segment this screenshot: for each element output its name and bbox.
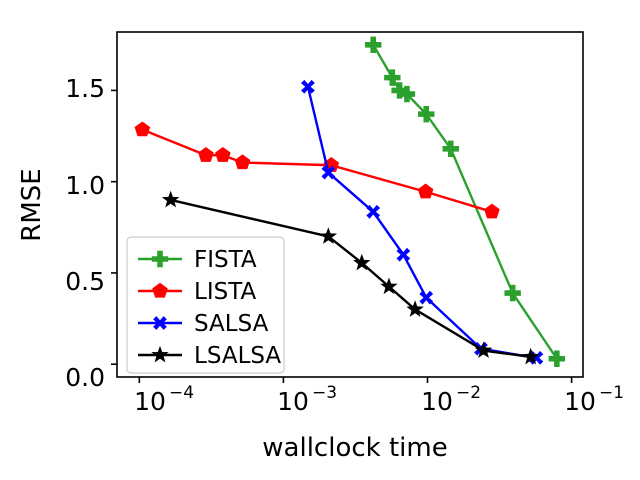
ytick-label-2: 1.0 [65, 171, 105, 200]
xtick-label-0: 10 −4 [134, 383, 194, 416]
legend-label: LSALSA [194, 343, 281, 369]
xtick-label-3: 10 −1 [564, 383, 624, 416]
xtick-base-1: 10 [277, 387, 309, 416]
xtick-exponent-1: −3 [312, 383, 337, 403]
xtick-label-1: 10 −3 [277, 383, 337, 416]
chart-figure: 0.0 0.5 1.0 1.5 10 −4 10 −3 10 −2 10 −1 … [0, 0, 640, 480]
xtick-base-0: 10 [134, 387, 166, 416]
x-axis-title: wallclock time [262, 433, 447, 463]
ytick-label-0: 0.0 [65, 363, 105, 392]
chart-svg: 0.0 0.5 1.0 1.5 10 −4 10 −3 10 −2 10 −1 … [0, 0, 640, 480]
xtick-exponent-3: −1 [599, 383, 624, 403]
ytick-label-1: 0.5 [65, 267, 105, 296]
y-axis-title: RMSE [17, 168, 47, 241]
xtick-exponent-0: −4 [169, 383, 194, 403]
legend-label: LISTA [194, 279, 256, 305]
legend-label: FISTA [194, 247, 257, 273]
xtick-label-2: 10 −2 [421, 383, 481, 416]
xtick-base-3: 10 [564, 387, 596, 416]
xtick-base-2: 10 [421, 387, 453, 416]
ytick-label-3: 1.5 [65, 74, 105, 103]
legend-label: SALSA [194, 311, 269, 337]
xtick-exponent-2: −2 [456, 383, 481, 403]
legend: FISTALISTASALSALSALSA [127, 237, 284, 373]
